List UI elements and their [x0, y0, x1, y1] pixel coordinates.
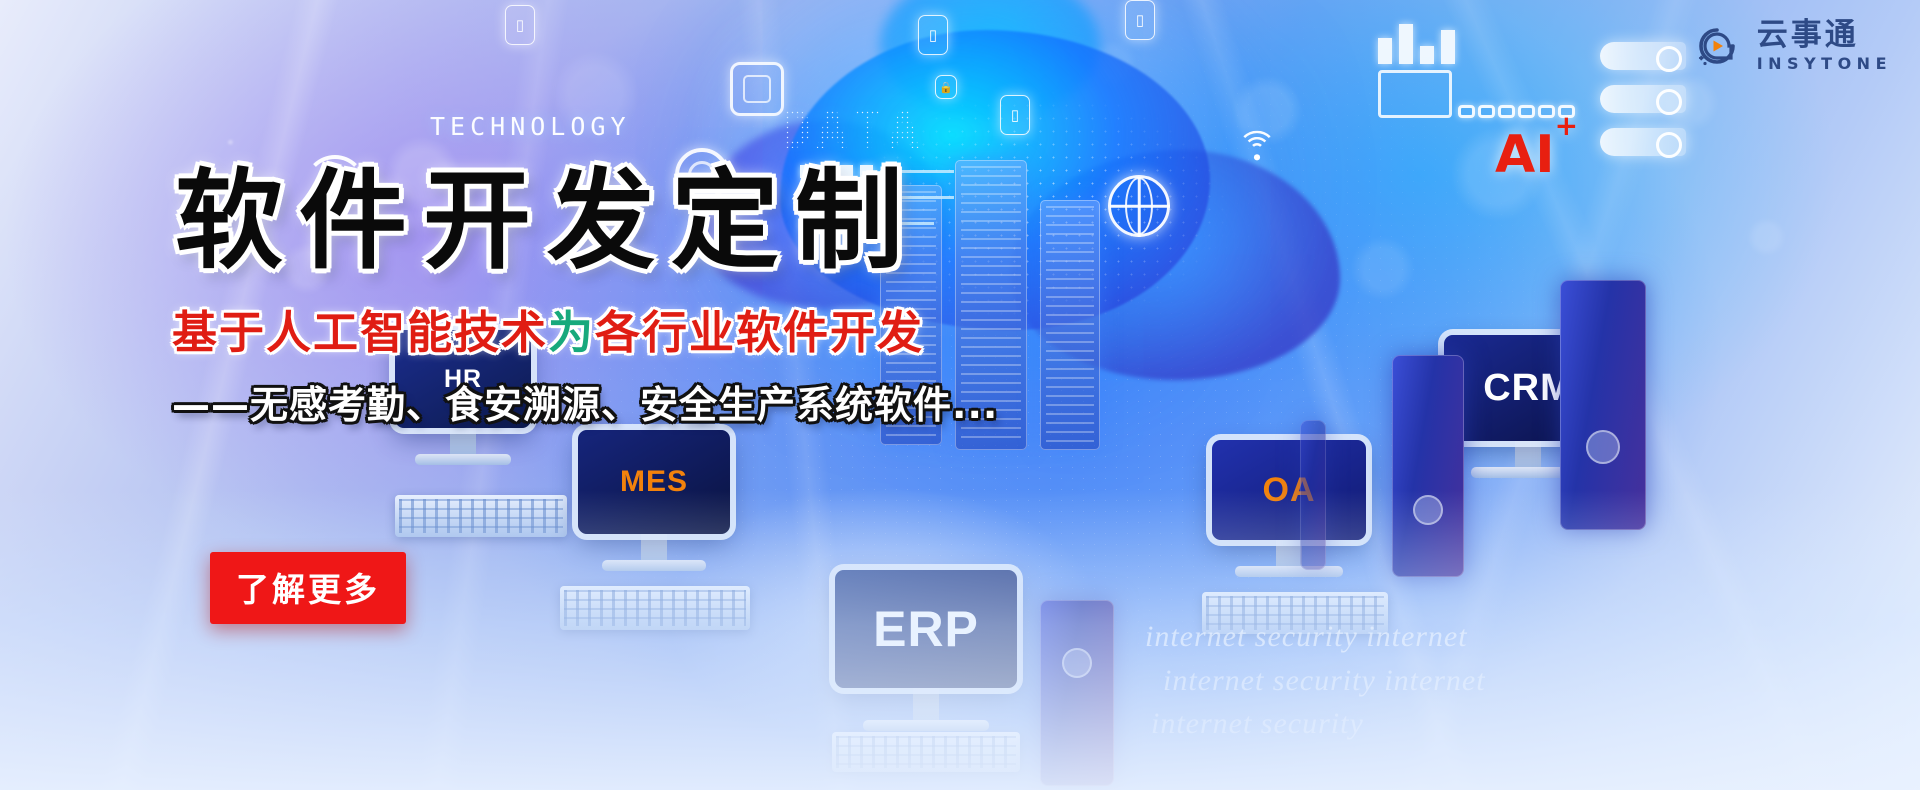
- pc-tower-oa: [1300, 420, 1326, 570]
- monitor-stand: [913, 688, 939, 720]
- tower-knob: [1062, 648, 1092, 678]
- keyboard-hr: [395, 495, 567, 537]
- pc-tower-erp: [1040, 600, 1114, 786]
- logo-wordmark: 云事通 INSYTONE: [1757, 20, 1892, 72]
- learn-more-button[interactable]: 了解更多: [210, 552, 406, 624]
- pc-tower-crm-left: [1392, 355, 1464, 577]
- network-node-icon: ▯: [1125, 0, 1155, 40]
- monitor-base: [863, 720, 989, 731]
- pc-tower-crm-right: [1560, 280, 1646, 530]
- logo-circle-play-icon: [1689, 18, 1745, 74]
- logo-chinese-name: 云事通: [1757, 20, 1892, 51]
- brand-logo[interactable]: 云事通 INSYTONE: [1689, 18, 1892, 74]
- screen-label-erp: ERP: [835, 570, 1017, 688]
- page-title: 软件开发定制: [175, 168, 919, 276]
- tagline: ——无感考勤、食安溯源、安全生产系统软件...: [172, 386, 998, 424]
- subtitle-part-1: 基于人工智能技术: [172, 306, 548, 359]
- watermark-line: internet security internet: [1145, 615, 1486, 659]
- monitor-stand: [1276, 540, 1302, 566]
- subtitle-part-2: 各行业软件开发: [595, 306, 924, 359]
- banner-root: ▯ ▯ ▯ ▯ 🔒 TECHNOLOGY DATA AI+ HR: [0, 0, 1920, 790]
- screen-label-oa: OA: [1212, 440, 1366, 540]
- capsule-icon: [1600, 128, 1686, 156]
- watermark-line: internet security internet: [1145, 659, 1486, 703]
- watermark-line: internet security: [1145, 702, 1486, 746]
- data-word: DATA: [780, 100, 924, 161]
- network-node-icon: ▯: [505, 5, 535, 45]
- signal-bars-icon: [1378, 18, 1455, 64]
- monitor-stand: [641, 534, 667, 560]
- computer-oa: OA: [1212, 440, 1366, 577]
- capsule-stack-decoration: [1600, 42, 1686, 156]
- keyboard-mes: [560, 586, 750, 630]
- computer-mes: MES: [578, 430, 730, 571]
- ai-label: AI: [1495, 125, 1555, 185]
- logo-english-name: INSYTONE: [1757, 56, 1892, 72]
- subtitle: 基于人工智能技术为各行业软件开发: [172, 310, 924, 355]
- screen-label-mes: MES: [578, 430, 730, 534]
- monitor-stand: [1515, 441, 1541, 467]
- tower-knob: [1586, 430, 1620, 464]
- monitor-base: [415, 454, 511, 465]
- monitor-stand: [450, 428, 476, 454]
- subtitle-accent: 为: [548, 306, 595, 359]
- server-rack-3: [1040, 200, 1100, 450]
- technology-word: TECHNOLOGY: [430, 112, 631, 141]
- capsule-icon: [1600, 85, 1686, 113]
- computer-erp: ERP: [835, 570, 1017, 731]
- ai-plus-word: AI+: [1495, 125, 1578, 185]
- ai-plus-sup: +: [1555, 109, 1578, 142]
- chart-frame-icon: [1378, 70, 1452, 118]
- internet-security-watermark: internet security internet internet secu…: [1145, 615, 1486, 746]
- monitor-base: [1235, 566, 1343, 577]
- chip-icon: [730, 62, 784, 116]
- capsule-icon: [1600, 42, 1686, 70]
- monitor-base: [602, 560, 706, 571]
- keyboard-erp: [832, 732, 1020, 772]
- tower-knob: [1413, 495, 1443, 525]
